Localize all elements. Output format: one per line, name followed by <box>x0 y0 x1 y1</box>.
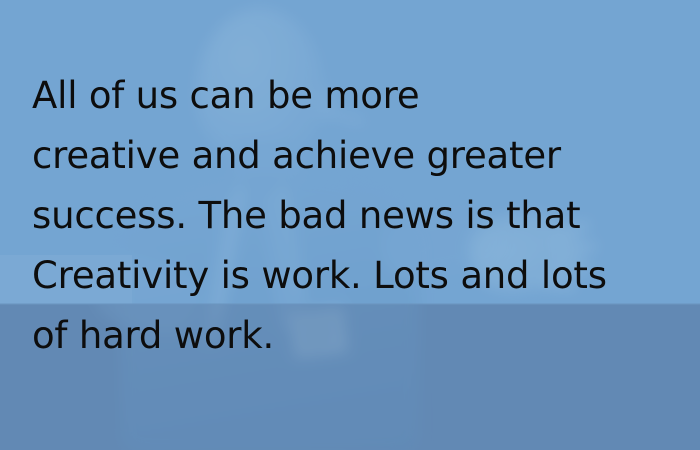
quote-line-5: of hard work. <box>32 306 668 366</box>
quote-text-block: All of us can be more creative and achie… <box>32 66 668 366</box>
quote-line-4: Creativity is work. Lots and lots <box>32 246 668 306</box>
quote-line-1: All of us can be more <box>32 66 668 126</box>
quote-line-2: creative and achieve greater <box>32 126 668 186</box>
quote-card: All of us can be more creative and achie… <box>0 0 700 450</box>
quote-line-3: success. The bad news is that <box>32 186 668 246</box>
